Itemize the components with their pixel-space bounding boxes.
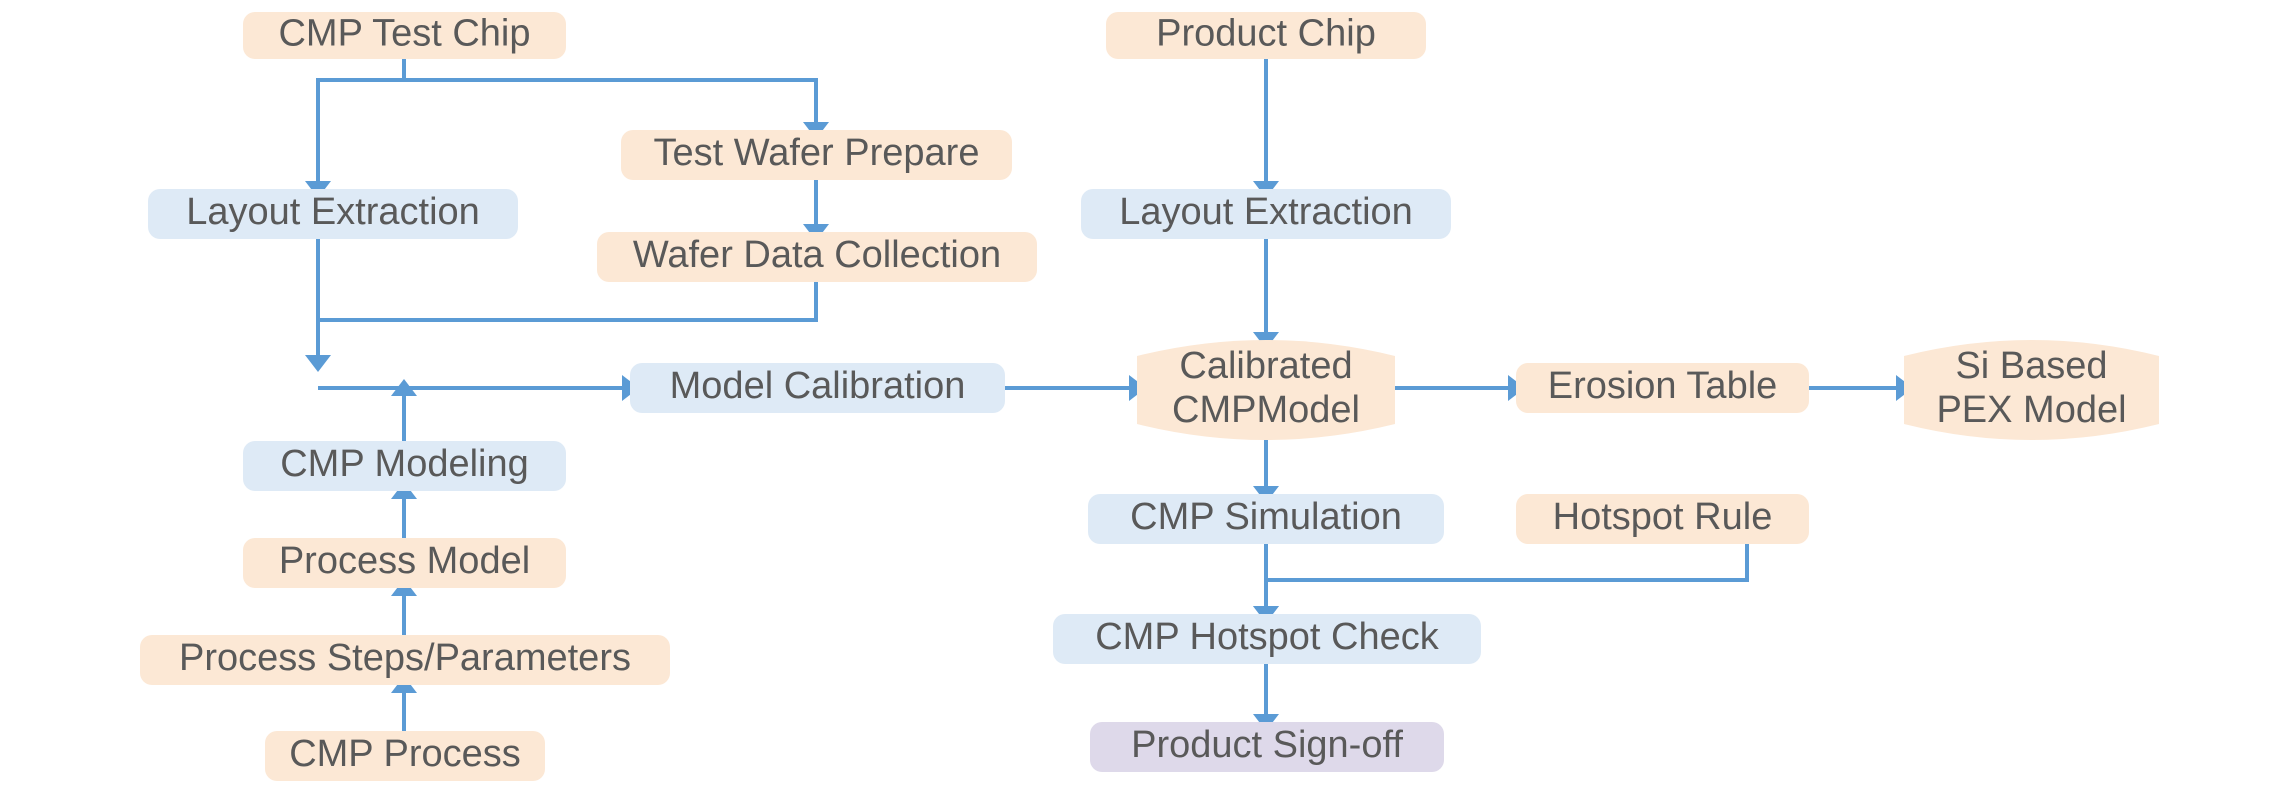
- node-label: CMPModel: [1172, 389, 1360, 431]
- edge-line: [318, 282, 816, 355]
- node-model-calibration[interactable]: Model Calibration: [630, 363, 1005, 413]
- edge-line: [318, 59, 404, 181]
- node-calibrated-cmpmodel[interactable]: CalibratedCMPModel: [1137, 340, 1395, 440]
- node-label: PEX Model: [1936, 389, 2126, 431]
- edge-line: [404, 59, 816, 122]
- node-label: Wafer Data Collection: [633, 234, 1001, 276]
- node-label: CMP Test Chip: [278, 13, 530, 55]
- node-label: Layout Extraction: [1119, 191, 1413, 233]
- node-label: CMP Process: [289, 733, 521, 775]
- node-label: Si Based: [1955, 345, 2107, 387]
- node-cmp-simulation[interactable]: CMP Simulation: [1088, 494, 1444, 544]
- node-layout-extraction-right[interactable]: Layout Extraction: [1081, 189, 1451, 239]
- node-label: Hotspot Rule: [1553, 496, 1773, 538]
- node-label: Process Steps/Parameters: [179, 637, 631, 679]
- node-label: Erosion Table: [1548, 365, 1778, 407]
- node-label: Process Model: [279, 540, 530, 582]
- edge-calibrated-cmpmodel-to-erosion-table: [1395, 375, 1525, 401]
- edge-model-calibration-to-calibrated-cmpmodel: [1005, 375, 1146, 401]
- node-cmp-test-chip[interactable]: CMP Test Chip: [243, 12, 566, 59]
- arrow-head-icon: [305, 355, 331, 372]
- node-erosion-table[interactable]: Erosion Table: [1516, 363, 1809, 413]
- edge-layout-extraction-right-to-calibrated-cmpmodel: [1253, 239, 1279, 349]
- edge-wafer-data-collection-to-model-calibration: [305, 282, 816, 372]
- node-label: Product Sign-off: [1131, 724, 1403, 766]
- flowchart-diagram: CMP Test ChipTest Wafer PrepareLayout Ex…: [0, 0, 2282, 804]
- node-label: Test Wafer Prepare: [654, 132, 980, 174]
- node-wafer-data-collection[interactable]: Wafer Data Collection: [597, 232, 1037, 282]
- node-label: Layout Extraction: [186, 191, 480, 233]
- node-label: Calibrated: [1179, 345, 1352, 387]
- edge-test-wafer-prepare-to-wafer-data-collection: [803, 180, 829, 241]
- node-cmp-process[interactable]: CMP Process: [265, 731, 545, 781]
- node-label: CMP Hotspot Check: [1095, 616, 1440, 658]
- node-process-model[interactable]: Process Model: [243, 538, 566, 588]
- node-hotspot-rule[interactable]: Hotspot Rule: [1516, 494, 1809, 544]
- edge-layout-extraction-left-to-model-calibration: [318, 375, 639, 401]
- node-process-steps-parameters[interactable]: Process Steps/Parameters: [140, 635, 670, 685]
- node-layout-extraction-left[interactable]: Layout Extraction: [148, 189, 518, 239]
- node-label: Product Chip: [1156, 13, 1376, 55]
- node-product-sign-off[interactable]: Product Sign-off: [1090, 722, 1444, 772]
- node-product-chip[interactable]: Product Chip: [1106, 12, 1426, 59]
- edge-erosion-table-to-si-based-pex-model: [1809, 375, 1913, 401]
- edge-cmp-test-chip-to-test-wafer-prepare: [404, 59, 829, 139]
- edge-line: [1266, 544, 1747, 606]
- node-cmp-modeling[interactable]: CMP Modeling: [243, 441, 566, 491]
- node-test-wafer-prepare[interactable]: Test Wafer Prepare: [621, 130, 1012, 180]
- edge-product-chip-to-layout-extraction-right: [1253, 59, 1279, 198]
- edge-cmp-test-chip-to-layout-extraction-left: [305, 59, 404, 198]
- node-label: CMP Simulation: [1130, 496, 1402, 538]
- node-label: Model Calibration: [670, 365, 966, 407]
- flowchart-canvas: CMP Test ChipTest Wafer PrepareLayout Ex…: [0, 0, 2282, 804]
- nodes-layer: CMP Test ChipTest Wafer PrepareLayout Ex…: [140, 12, 2159, 781]
- node-label: CMP Modeling: [280, 443, 529, 485]
- edge-cmp-hotspot-check-to-product-sign-off: [1253, 664, 1279, 731]
- node-si-based-pex-model[interactable]: Si BasedPEX Model: [1904, 340, 2159, 440]
- edge-calibrated-cmpmodel-to-cmp-simulation: [1253, 440, 1279, 503]
- node-cmp-hotspot-check[interactable]: CMP Hotspot Check: [1053, 614, 1481, 664]
- edge-hotspot-rule-to-cmp-hotspot-check: [1253, 544, 1747, 623]
